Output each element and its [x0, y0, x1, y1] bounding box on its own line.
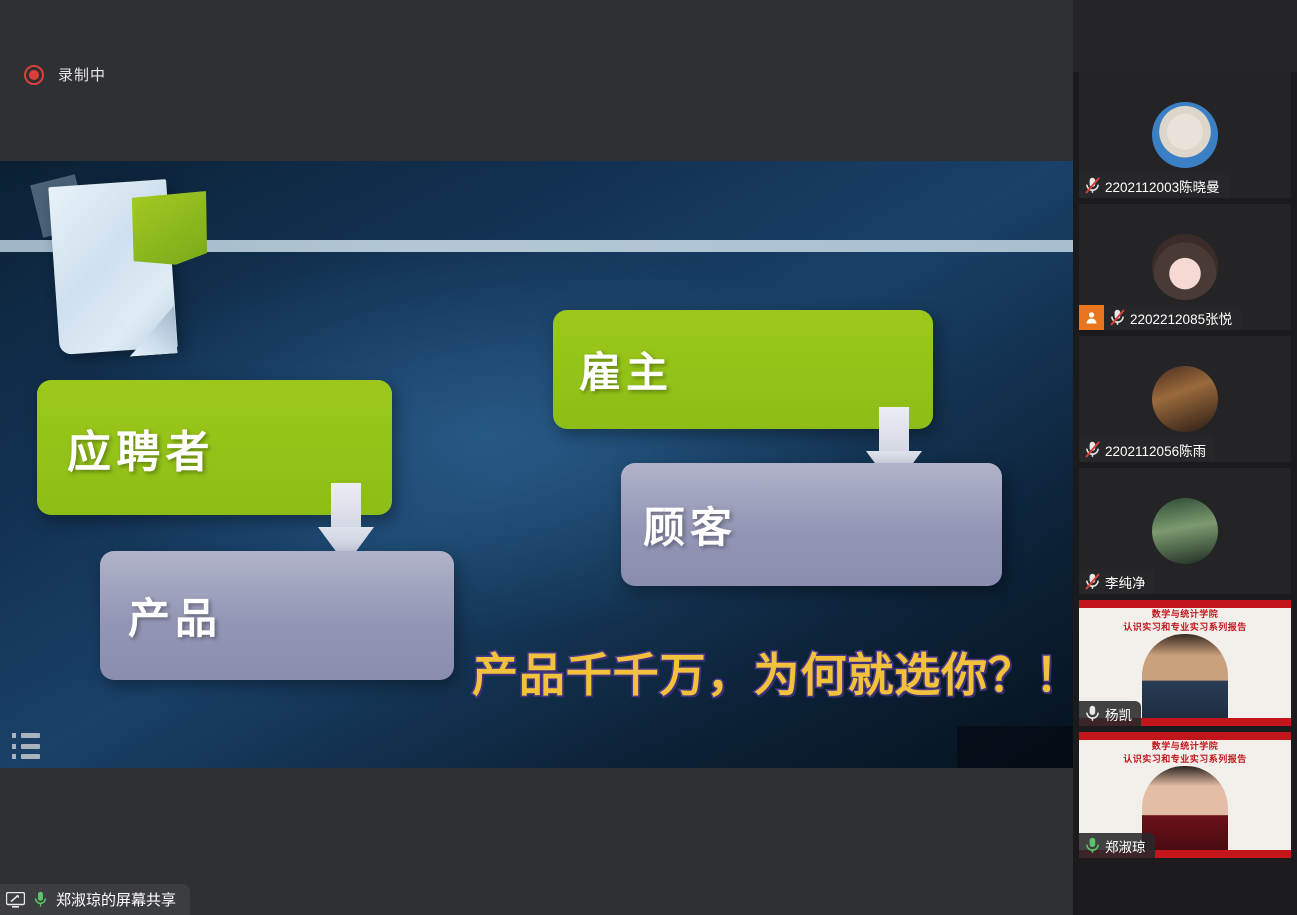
- screen-share-icon: [6, 892, 25, 908]
- participant-name-chip: 杨凯: [1079, 701, 1141, 726]
- participant-name-chip: 2202112056陈雨: [1079, 437, 1215, 462]
- screen-share-label: 郑淑琼的屏幕共享: [56, 889, 176, 910]
- mic-on-icon: [1079, 705, 1105, 722]
- host-badge-icon: [1079, 305, 1104, 330]
- avatar: [1152, 366, 1218, 432]
- participant-name-chip: 2202212085张悦: [1079, 305, 1241, 330]
- share-top-bar: 录制中: [0, 0, 1073, 161]
- mic-muted-icon: [1079, 177, 1105, 194]
- slide-headline: 产品千千万，为何就选你？！: [472, 639, 1073, 705]
- slide-box-product-label: 产品: [128, 585, 222, 646]
- participant-tile[interactable]: 2202212085张悦: [1079, 204, 1291, 330]
- participant-name: 2202212085张悦: [1130, 308, 1232, 328]
- slide-box-employer-label: 雇主: [579, 339, 673, 400]
- mic-on-icon: [34, 891, 47, 908]
- recording-label: 录制中: [58, 64, 106, 85]
- avatar: [1152, 234, 1218, 300]
- participants-panel[interactable]: 2202112003陈晓曼: [1073, 0, 1297, 915]
- participant-name: 李纯净: [1105, 572, 1146, 592]
- screen-share-region: 录制中 应聘者 雇主: [0, 0, 1073, 915]
- participant-tile[interactable]: 数学与统计学院 认识实习和专业实习系列报告 郑淑琼: [1079, 732, 1291, 858]
- participant-tile[interactable]: 李纯净: [1079, 468, 1291, 594]
- mic-active-icon: [1079, 837, 1105, 854]
- participant-name: 杨凯: [1105, 704, 1132, 724]
- mic-muted-icon: [1079, 573, 1105, 590]
- participant-name: 郑淑琼: [1105, 836, 1146, 856]
- sticky-note-graphic: [130, 191, 210, 267]
- recording-indicator: 录制中: [24, 64, 106, 85]
- slide-box-applicant-label: 应聘者: [67, 416, 215, 480]
- video-banner-text: 数学与统计学院 认识实习和专业实习系列报告: [1079, 609, 1291, 635]
- mic-muted-icon: [1079, 441, 1105, 458]
- mic-muted-icon: [1104, 309, 1130, 326]
- slide-dark-rectangle: [957, 726, 1073, 768]
- participant-tile[interactable]: 2202112056陈雨: [1079, 336, 1291, 462]
- video-banner-text: 数学与统计学院 认识实习和专业实习系列报告: [1079, 741, 1291, 767]
- slide-box-customer: 顾客: [621, 463, 1002, 586]
- conference-window: 录制中 应聘者 雇主: [0, 0, 1297, 915]
- slide-box-customer-label: 顾客: [643, 494, 737, 555]
- slide-list-icon[interactable]: [12, 733, 40, 759]
- person-silhouette: [1142, 766, 1228, 850]
- participants-panel-header: [1073, 0, 1297, 72]
- participant-tile[interactable]: 2202112003陈晓曼: [1079, 72, 1291, 198]
- person-silhouette: [1142, 634, 1228, 718]
- avatar: [1152, 498, 1218, 564]
- avatar: [1152, 102, 1218, 168]
- participant-name: 2202112056陈雨: [1105, 440, 1206, 460]
- participant-tile[interactable]: 数学与统计学院 认识实习和专业实习系列报告 杨凯: [1079, 600, 1291, 726]
- screen-share-status-bar: 郑淑琼的屏幕共享: [0, 884, 190, 915]
- record-dot-icon: [24, 65, 44, 85]
- slide-box-product: 产品: [100, 551, 454, 680]
- participant-name: 2202112003陈晓曼: [1105, 176, 1220, 196]
- paper-sheet-graphic: [36, 171, 211, 361]
- participant-name-chip: 郑淑琼: [1079, 833, 1155, 858]
- participant-name-chip: 李纯净: [1079, 569, 1155, 594]
- participant-name-chip: 2202112003陈晓曼: [1079, 173, 1229, 198]
- presentation-slide: 应聘者 雇主 产品 顾客 产品千千万，为何就选你？！: [0, 161, 1073, 768]
- share-bottom-area: 郑淑琼的屏幕共享: [0, 768, 1073, 915]
